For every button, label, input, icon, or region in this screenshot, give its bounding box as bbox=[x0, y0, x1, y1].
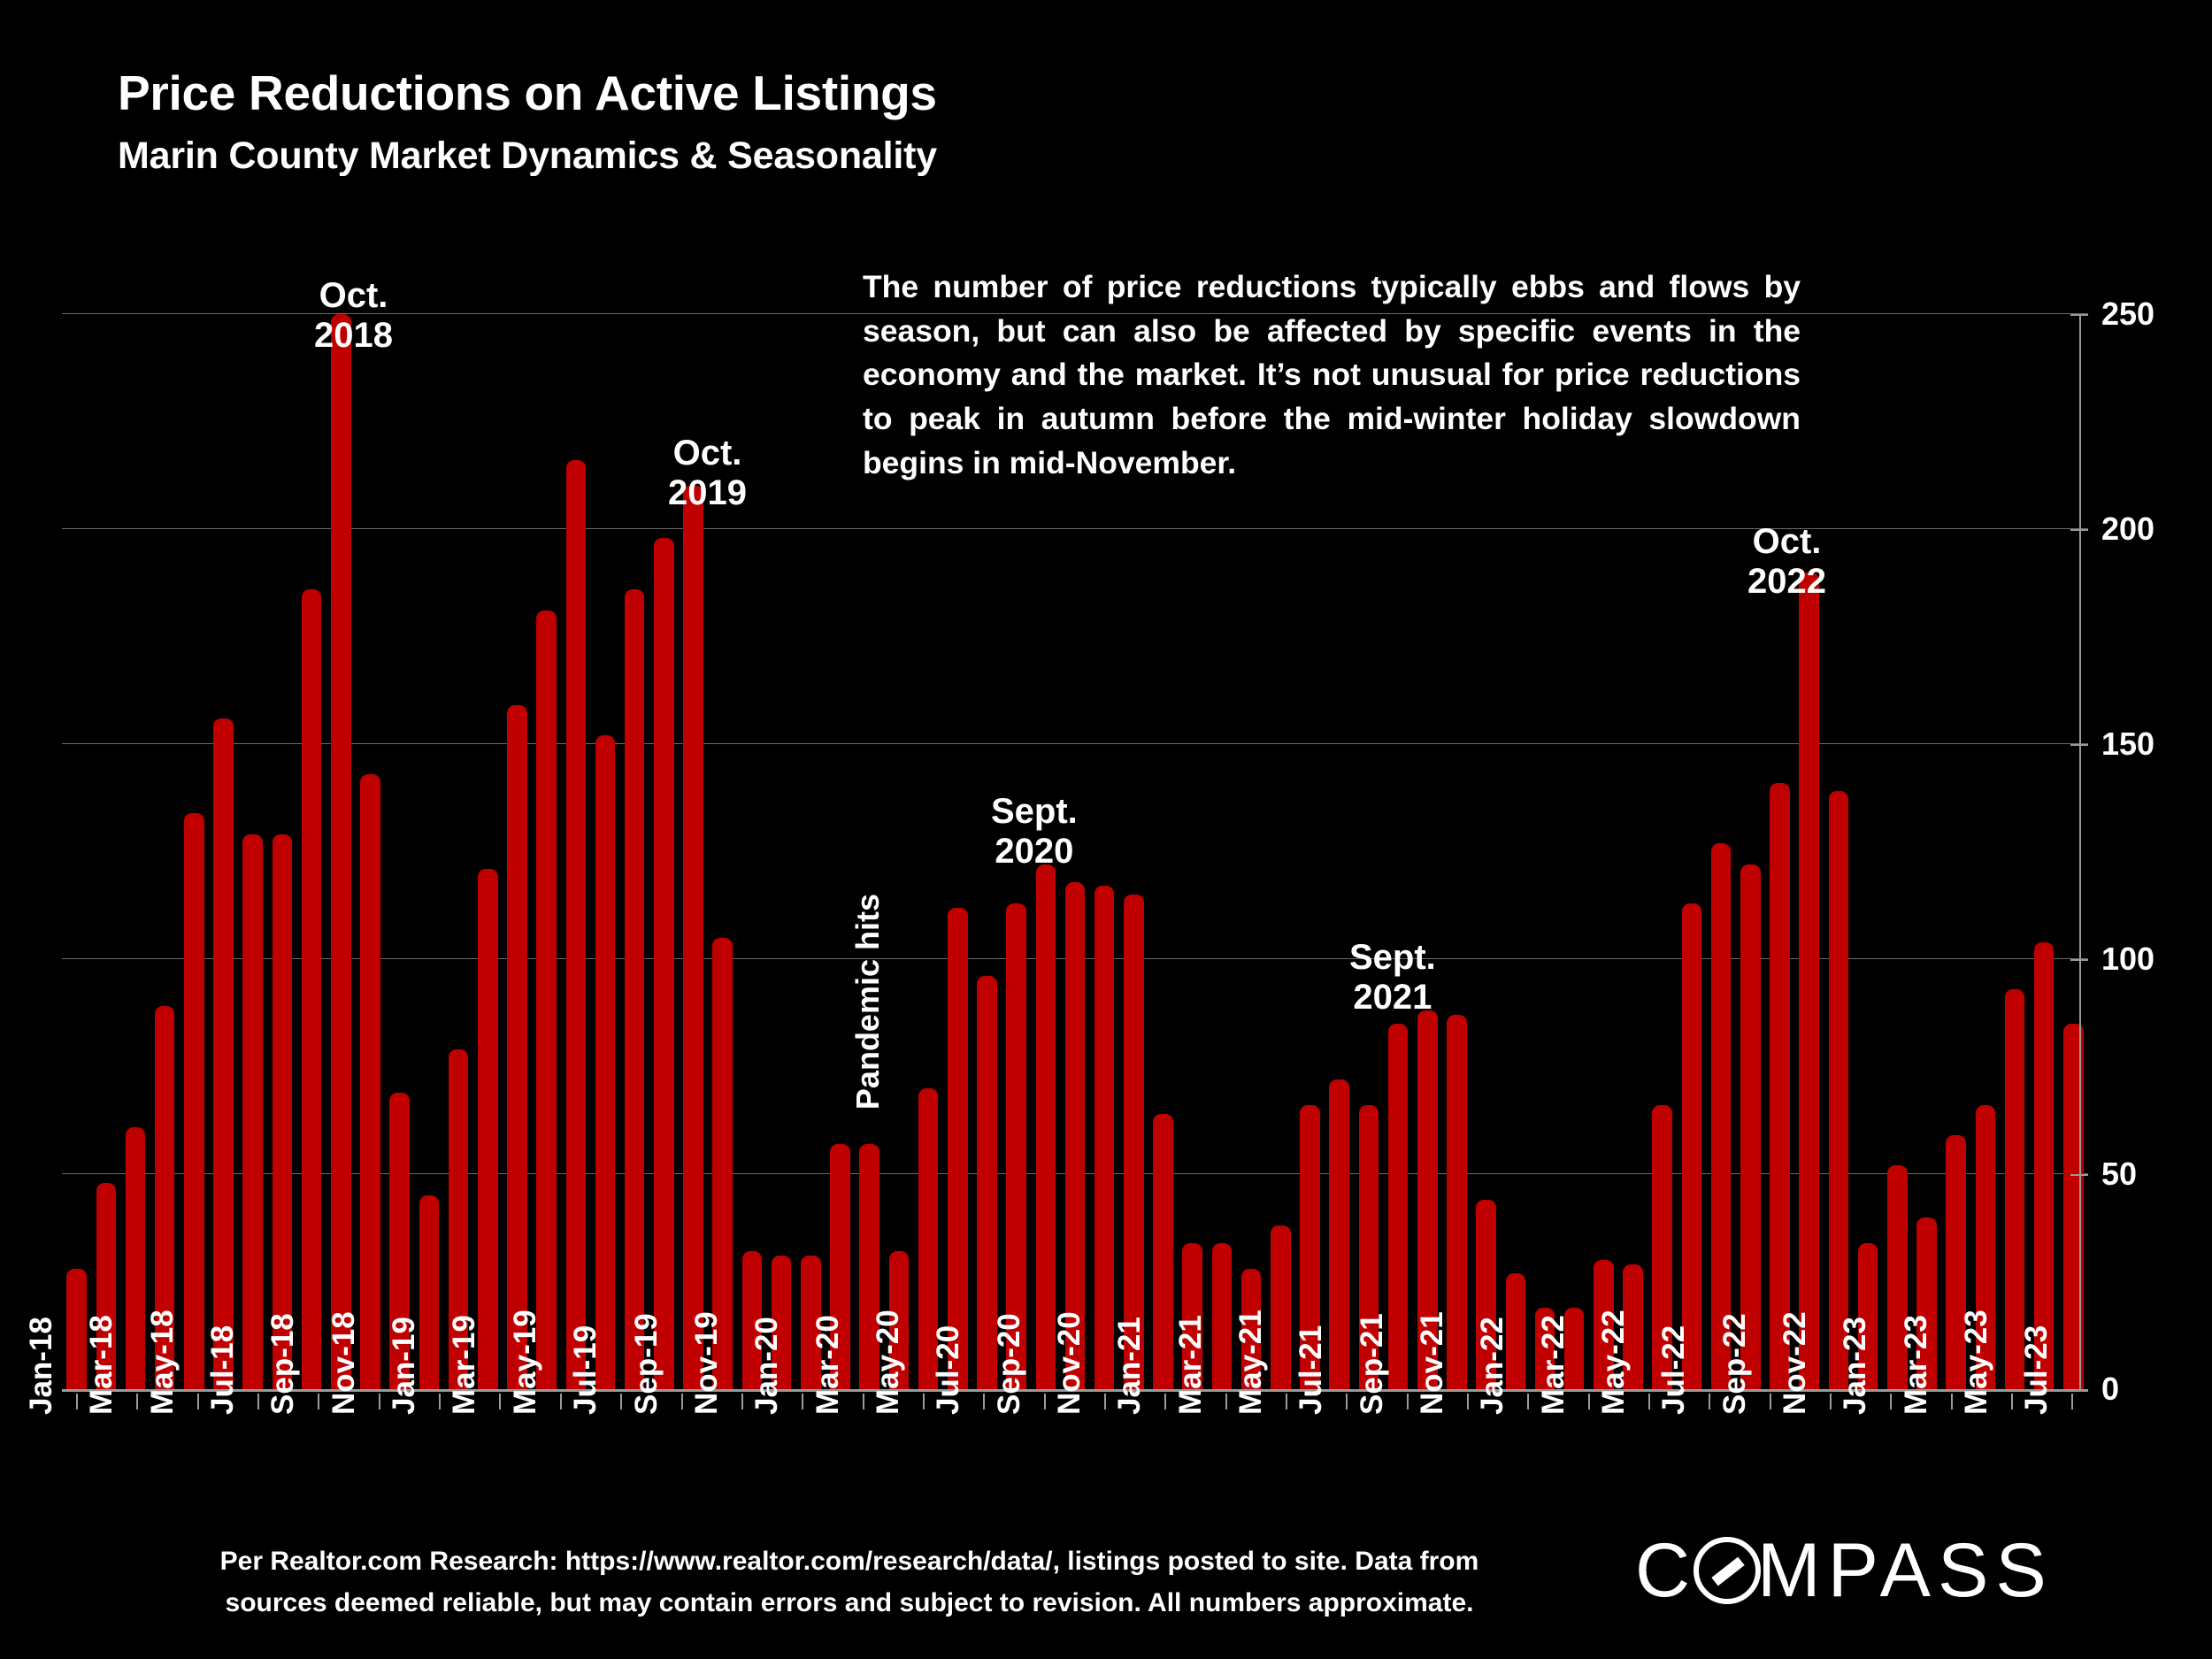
bar-undefined[interactable] bbox=[2034, 942, 2055, 1389]
x-tick-label: Mar-20 bbox=[810, 1315, 846, 1415]
callout-sept-2020: Sept. 2020 bbox=[991, 792, 1078, 872]
y-tick-label: 150 bbox=[2101, 726, 2154, 763]
bar-slot bbox=[120, 314, 150, 1389]
y-tick-mark bbox=[2070, 314, 2088, 316]
bar-slot bbox=[62, 314, 91, 1389]
bar-slot bbox=[532, 314, 561, 1389]
bar-slot bbox=[1853, 314, 1882, 1389]
bar-slot bbox=[209, 314, 238, 1389]
x-label-slot bbox=[1604, 1394, 1634, 1615]
x-label-slot: Mar-18 bbox=[122, 1394, 152, 1615]
bar-Dec-22[interactable] bbox=[1799, 572, 1819, 1389]
x-tick-label: May-21 bbox=[1233, 1310, 1269, 1415]
x-tick-label: May-18 bbox=[145, 1310, 180, 1415]
y-tick-mark bbox=[2070, 959, 2088, 961]
x-tick-mark bbox=[1709, 1394, 1710, 1409]
x-tick-label: Jul-19 bbox=[568, 1325, 603, 1415]
bar-slot bbox=[1413, 314, 1442, 1389]
bar-slot bbox=[1883, 314, 1912, 1389]
x-tick-mark bbox=[681, 1394, 683, 1409]
x-tick-mark bbox=[2071, 1394, 2073, 1409]
x-tick-label: Mar-22 bbox=[1536, 1315, 1571, 1415]
y-tick-label: 0 bbox=[2101, 1371, 2119, 1408]
x-tick-mark bbox=[1830, 1394, 1832, 1409]
bar-slot bbox=[913, 314, 942, 1389]
x-tick-label: Jan-19 bbox=[387, 1317, 422, 1415]
bar-slot bbox=[1501, 314, 1530, 1389]
x-tick-mark bbox=[76, 1394, 78, 1409]
x-tick-mark bbox=[1770, 1394, 1771, 1409]
x-tick-mark bbox=[1225, 1394, 1227, 1409]
bar-Apr-21[interactable] bbox=[1212, 1243, 1233, 1389]
bar-Mar-18[interactable] bbox=[126, 1127, 146, 1389]
bar-May-19[interactable] bbox=[536, 611, 557, 1389]
x-tick-label: Nov-21 bbox=[1415, 1311, 1450, 1415]
x-label-slot: Jan-18 bbox=[62, 1394, 92, 1615]
x-tick-mark bbox=[1044, 1394, 1046, 1409]
bar-slot bbox=[1383, 314, 1412, 1389]
bar-Oct-21[interactable] bbox=[1388, 1024, 1409, 1389]
x-tick-label: Jan-21 bbox=[1112, 1317, 1148, 1415]
x-tick-mark bbox=[1951, 1394, 1953, 1409]
bar-slot bbox=[855, 314, 884, 1389]
x-tick-label: Sep-19 bbox=[629, 1313, 664, 1415]
y-tick-mark bbox=[2070, 744, 2088, 746]
x-tick-label: Jan-23 bbox=[1838, 1317, 1873, 1415]
y-tick-label: 200 bbox=[2101, 511, 2154, 548]
bar-slot bbox=[2059, 314, 2088, 1389]
x-tick-label: Jul-20 bbox=[931, 1325, 966, 1415]
x-label-slot bbox=[1543, 1394, 1573, 1615]
y-tick-mark bbox=[2070, 1174, 2088, 1176]
bar-slot bbox=[267, 314, 296, 1389]
bar-slot bbox=[326, 314, 356, 1389]
bar-slot bbox=[1794, 314, 1824, 1389]
x-tick-mark bbox=[1467, 1394, 1469, 1409]
bar-slot bbox=[473, 314, 503, 1389]
bar-slot bbox=[238, 314, 267, 1389]
x-tick-label: Mar-21 bbox=[1173, 1315, 1209, 1415]
x-tick-mark bbox=[499, 1394, 501, 1409]
svg-text:MPASS: MPASS bbox=[1757, 1532, 2054, 1613]
bar-slot bbox=[503, 314, 532, 1389]
bar-slot bbox=[2000, 314, 2029, 1389]
bar-Nov-18[interactable] bbox=[360, 774, 380, 1389]
x-tick-mark bbox=[620, 1394, 622, 1409]
bar-Oct-20[interactable] bbox=[1036, 864, 1056, 1389]
y-axis-line bbox=[2079, 314, 2081, 1389]
bar-slot bbox=[561, 314, 590, 1389]
bar-slot bbox=[180, 314, 209, 1389]
page-title: Price Reductions on Active Listings bbox=[118, 69, 937, 118]
bar-slot bbox=[943, 314, 972, 1389]
bar-slot bbox=[1677, 314, 1706, 1389]
bar-slot bbox=[590, 314, 619, 1389]
x-tick-mark bbox=[379, 1394, 380, 1409]
x-tick-mark bbox=[1890, 1394, 1892, 1409]
bar-slot bbox=[1589, 314, 1618, 1389]
bar-Oct-19[interactable] bbox=[683, 486, 703, 1389]
bar-slot bbox=[1354, 314, 1383, 1389]
y-tick-mark bbox=[2070, 529, 2088, 531]
bar-Mar-19[interactable] bbox=[478, 869, 498, 1389]
x-tick-mark bbox=[1588, 1394, 1590, 1409]
bar-slot bbox=[1442, 314, 1471, 1389]
bar-slot bbox=[826, 314, 855, 1389]
bar-May-18[interactable] bbox=[184, 813, 204, 1389]
x-tick-label: Jan-20 bbox=[749, 1317, 785, 1415]
bar-Aug-19[interactable] bbox=[625, 589, 645, 1389]
bar-slot bbox=[1707, 314, 1736, 1389]
bar-Apr-19[interactable] bbox=[507, 705, 527, 1389]
bar-slot bbox=[385, 314, 414, 1389]
x-tick-label: Jul-18 bbox=[205, 1325, 241, 1415]
x-tick-mark bbox=[923, 1394, 925, 1409]
x-tick-label: Sep-20 bbox=[992, 1313, 1027, 1415]
x-tick-label: Mar-23 bbox=[1899, 1315, 1934, 1415]
y-tick-label: 50 bbox=[2101, 1156, 2137, 1193]
x-tick-label: May-23 bbox=[1959, 1310, 1994, 1415]
bar-slot bbox=[414, 314, 443, 1389]
x-tick-label: Nov-19 bbox=[689, 1311, 725, 1415]
bar-slot bbox=[1824, 314, 1853, 1389]
x-tick-mark bbox=[1346, 1394, 1348, 1409]
bar-slot bbox=[150, 314, 180, 1389]
x-tick-mark bbox=[1286, 1394, 1287, 1409]
x-tick-mark bbox=[983, 1394, 985, 1409]
bar-slot bbox=[1970, 314, 2000, 1389]
bar-slot bbox=[1912, 314, 1941, 1389]
bar-slot bbox=[356, 314, 385, 1389]
bar-slot bbox=[884, 314, 913, 1389]
compass-logo: C MPASS bbox=[1635, 1536, 2131, 1612]
bar-slot bbox=[1736, 314, 1765, 1389]
bar-slot bbox=[1266, 314, 1295, 1389]
bar-slot bbox=[1178, 314, 1207, 1389]
bar-Jun-21[interactable] bbox=[1271, 1225, 1291, 1389]
x-tick-mark bbox=[439, 1394, 441, 1409]
bar-Aug-18[interactable] bbox=[273, 834, 293, 1389]
title-block: Price Reductions on Active Listings Mari… bbox=[118, 69, 937, 175]
x-tick-mark bbox=[136, 1394, 138, 1409]
x-tick-label: May-20 bbox=[871, 1310, 906, 1415]
bar-slot bbox=[1941, 314, 1970, 1389]
x-tick-mark bbox=[1527, 1394, 1529, 1409]
x-tick-mark bbox=[863, 1394, 864, 1409]
bar-slot bbox=[1295, 314, 1325, 1389]
bar-slot bbox=[2030, 314, 2059, 1389]
footer-line-2: sources deemed reliable, but may contain… bbox=[168, 1583, 1531, 1624]
x-tick-mark bbox=[1164, 1394, 1166, 1409]
callout-oct-2019: Oct. 2019 bbox=[668, 434, 747, 513]
x-tick-mark bbox=[1104, 1394, 1106, 1409]
bar-Jul-20[interactable] bbox=[948, 908, 968, 1389]
x-tick-mark bbox=[741, 1394, 743, 1409]
bar-Aug-21[interactable] bbox=[1329, 1079, 1349, 1389]
bar-slot bbox=[91, 314, 120, 1389]
x-tick-label: Sep-18 bbox=[265, 1313, 301, 1415]
bar-Oct-18[interactable] bbox=[331, 314, 351, 1389]
x-tick-mark bbox=[560, 1394, 562, 1409]
x-tick-mark bbox=[1648, 1394, 1650, 1409]
svg-text:C: C bbox=[1635, 1532, 1697, 1613]
bar-Feb-21[interactable] bbox=[1153, 1114, 1173, 1389]
bar-Jun-18[interactable] bbox=[213, 718, 234, 1389]
bar-slot bbox=[1119, 314, 1148, 1389]
x-tick-label: Jan-18 bbox=[24, 1317, 59, 1415]
bar-slot bbox=[1530, 314, 1559, 1389]
x-tick-label: Jul-21 bbox=[1294, 1325, 1329, 1415]
callout-oct-2022: Oct. 2022 bbox=[1747, 522, 1826, 602]
bar-Jan-21[interactable] bbox=[1124, 895, 1144, 1389]
bar-slot bbox=[620, 314, 649, 1389]
x-tick-label: May-19 bbox=[508, 1310, 543, 1415]
callout-pandemic-hits: Pandemic hits bbox=[849, 894, 887, 1110]
x-tick-label: Sep-21 bbox=[1355, 1313, 1390, 1415]
x-tick-mark bbox=[318, 1394, 319, 1409]
bar-Jan-23[interactable] bbox=[1829, 791, 1849, 1389]
bar-slot bbox=[1765, 314, 1794, 1389]
bar-slot bbox=[1237, 314, 1266, 1389]
bar-Dec-20[interactable] bbox=[1094, 886, 1115, 1389]
x-tick-mark bbox=[802, 1394, 803, 1409]
bar-slot bbox=[1560, 314, 1589, 1389]
bar-slot bbox=[1618, 314, 1647, 1389]
bar-slot bbox=[767, 314, 796, 1389]
bar-slot bbox=[1471, 314, 1501, 1389]
bar-Sep-22[interactable] bbox=[1711, 843, 1732, 1389]
bar-Jul-19[interactable] bbox=[595, 735, 616, 1389]
footer-line-1: Per Realtor.com Research: https://www.re… bbox=[168, 1541, 1531, 1583]
bar-slot bbox=[796, 314, 826, 1389]
footer-source-note: Per Realtor.com Research: https://www.re… bbox=[168, 1541, 1531, 1624]
x-tick-label: Jul-23 bbox=[2019, 1325, 2055, 1415]
x-tick-mark bbox=[197, 1394, 199, 1409]
x-tick-label: Jul-22 bbox=[1656, 1325, 1692, 1415]
bar-Oct-22[interactable] bbox=[1740, 864, 1761, 1389]
x-label-slot: Mar-22 bbox=[1574, 1394, 1604, 1615]
bar-slot bbox=[1325, 314, 1354, 1389]
compass-wordmark-icon: C MPASS bbox=[1635, 1532, 2131, 1616]
bar-Jun-19[interactable] bbox=[566, 460, 587, 1389]
x-tick-mark bbox=[1407, 1394, 1409, 1409]
bar-Nov-22[interactable] bbox=[1770, 783, 1790, 1389]
callout-sept-2021: Sept. 2021 bbox=[1349, 938, 1436, 1018]
x-tick-label: Nov-20 bbox=[1052, 1311, 1087, 1415]
x-tick-label: Sep-22 bbox=[1717, 1313, 1753, 1415]
bar-Sep-18[interactable] bbox=[302, 589, 322, 1389]
x-tick-label: Mar-19 bbox=[447, 1315, 482, 1415]
x-tick-mark bbox=[2011, 1394, 2013, 1409]
bar-slot bbox=[443, 314, 472, 1389]
bar-Sep-19[interactable] bbox=[654, 538, 674, 1389]
bar-slot bbox=[297, 314, 326, 1389]
x-tick-mark bbox=[257, 1394, 259, 1409]
x-tick-label: Mar-18 bbox=[84, 1315, 119, 1415]
y-tick-label: 100 bbox=[2101, 941, 2154, 978]
x-tick-label: May-22 bbox=[1596, 1310, 1632, 1415]
bar-Aug-22[interactable] bbox=[1682, 903, 1702, 1389]
page-subtitle: Marin County Market Dynamics & Seasonali… bbox=[118, 137, 937, 175]
bar-slot bbox=[1207, 314, 1236, 1389]
x-tick-label: Jan-22 bbox=[1475, 1317, 1510, 1415]
callout-oct-2018: Oct. 2018 bbox=[314, 276, 393, 356]
bar-slot bbox=[1647, 314, 1677, 1389]
y-tick-label: 250 bbox=[2101, 296, 2154, 333]
x-tick-label: Nov-22 bbox=[1778, 1311, 1813, 1415]
x-tick-label: Nov-18 bbox=[326, 1311, 362, 1415]
x-label-slot bbox=[92, 1394, 122, 1615]
bar-slot bbox=[1090, 314, 1119, 1389]
bar-Jul-18[interactable] bbox=[242, 834, 263, 1389]
bar-slot bbox=[1148, 314, 1178, 1389]
